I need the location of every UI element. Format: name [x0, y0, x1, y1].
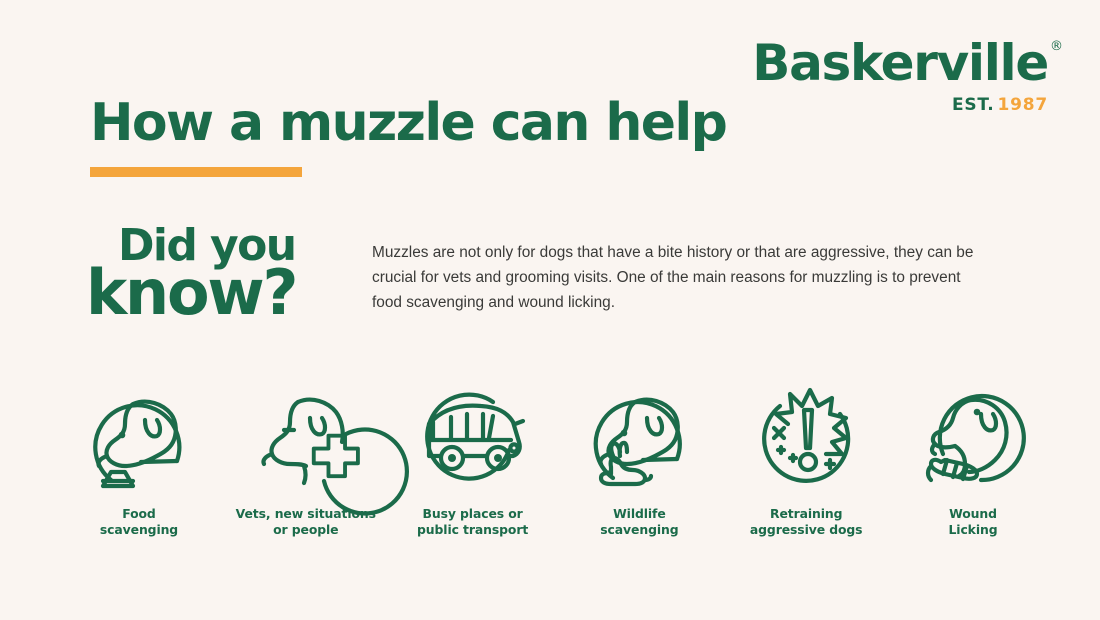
- icon-label: Busy places or public transport: [417, 506, 528, 537]
- dog-head-food-bowl-icon: [81, 388, 197, 494]
- icon-item-vets-new-situations: Vets, new situations or people: [223, 388, 389, 537]
- icon-label: Wound Licking: [949, 506, 998, 537]
- brand-wordmark: Baskerville ®: [752, 38, 1048, 88]
- did-you-know-heading: Did you know?: [86, 228, 296, 319]
- brand-logo: Baskerville ® EST.1987: [752, 38, 1048, 114]
- brand-est-word: EST.: [952, 95, 995, 115]
- page-title: How a muzzle can help: [90, 96, 726, 151]
- body-paragraph: Muzzles are not only for dogs that have …: [372, 241, 984, 316]
- bus-public-transport-icon: [415, 388, 531, 494]
- icon-strip: Food scavenging Vets, new situations or …: [56, 388, 1056, 537]
- icon-label: Retraining aggressive dogs: [750, 506, 863, 537]
- icon-item-wildlife-scavenging: Wildlife scavenging: [556, 388, 722, 537]
- icon-label: Vets, new situations or people: [236, 506, 376, 537]
- dog-head-medical-cross-icon: [248, 388, 364, 494]
- slide-canvas: Baskerville ® EST.1987 How a muzzle can …: [0, 0, 1100, 620]
- icon-item-retraining-aggressive: Retraining aggressive dogs: [723, 388, 889, 537]
- icon-item-food-scavenging: Food scavenging: [56, 388, 222, 537]
- brand-established: EST.1987: [752, 97, 1048, 114]
- did-you-know-line-2: know?: [86, 268, 296, 319]
- icon-item-wound-licking: Wound Licking: [890, 388, 1056, 537]
- dog-head-rabbit-icon: [581, 388, 697, 494]
- brand-est-year: 1987: [997, 95, 1048, 115]
- icon-label: Wildlife scavenging: [600, 506, 678, 537]
- icon-item-busy-places: Busy places or public transport: [390, 388, 556, 537]
- registered-trademark-icon: ®: [1050, 40, 1063, 53]
- icon-label: Food scavenging: [100, 506, 178, 537]
- dog-licking-bandaged-paw-icon: [915, 388, 1031, 494]
- title-accent-rule: [90, 167, 302, 177]
- brand-wordmark-text: Baskerville: [752, 34, 1048, 92]
- exclamation-starburst-icon: [748, 388, 864, 494]
